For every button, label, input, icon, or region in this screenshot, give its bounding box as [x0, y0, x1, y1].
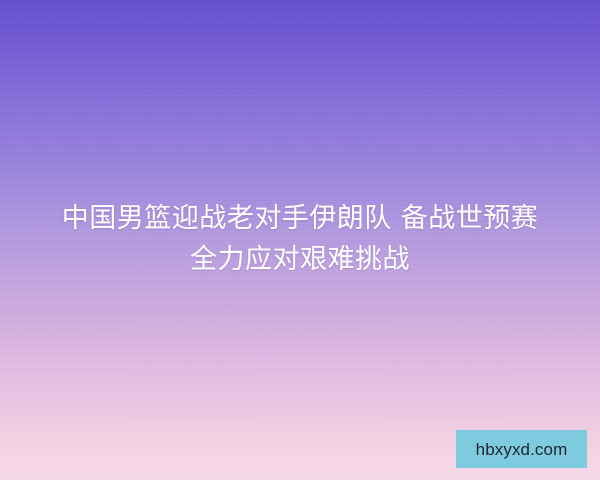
page-title: 中国男篮迎战老对手伊朗队 备战世预赛 全力应对艰难挑战: [0, 198, 600, 280]
watermark-label: hbxyxd.com: [476, 441, 568, 458]
poster-canvas: 中国男篮迎战老对手伊朗队 备战世预赛 全力应对艰难挑战 hbxyxd.com: [0, 0, 600, 480]
watermark-badge: hbxyxd.com: [456, 430, 587, 468]
